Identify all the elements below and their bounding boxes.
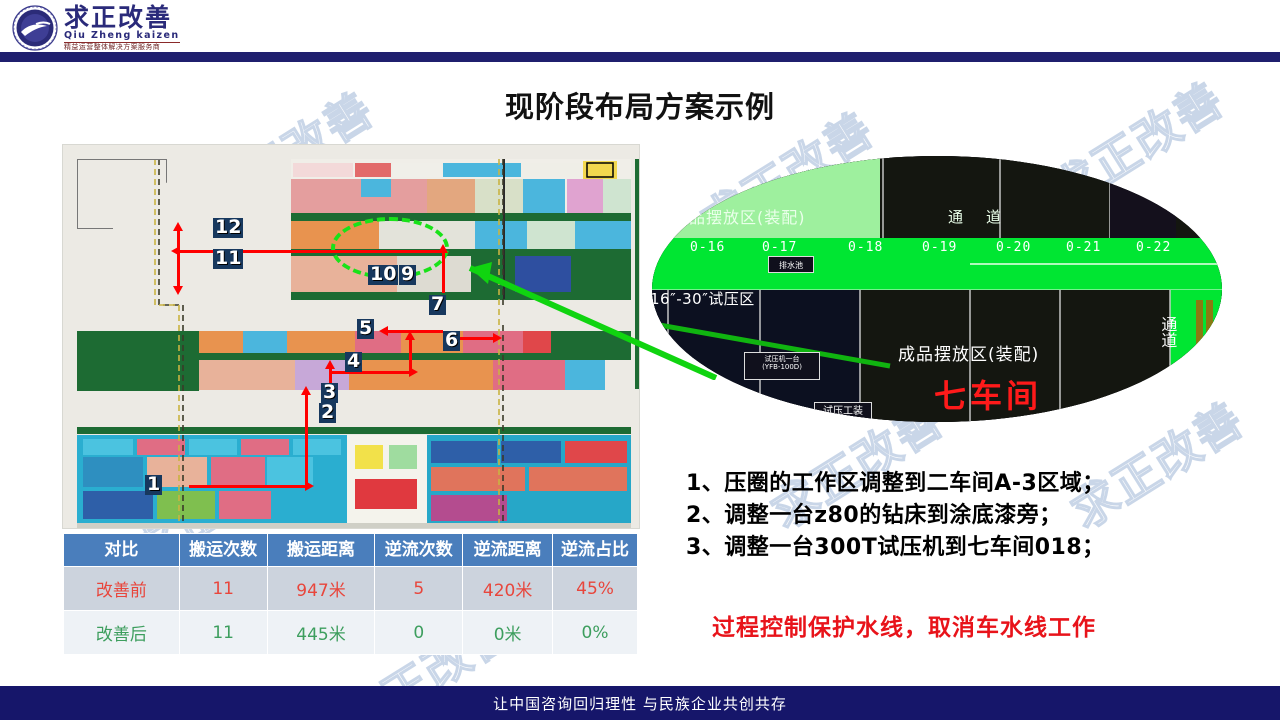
note-line: 2、调整一台z80的钻床到涂底漆旁； [686,500,1246,532]
cell-backflow-count: 5 [375,567,463,611]
header-divider-bar [0,52,1280,62]
cell-distance: 947米 [267,567,375,611]
note-line: 3、调整一台300T试压机到七车间018； [686,532,1246,564]
note-highlight: 过程控制保护水线，取消车水线工作 [712,608,1096,642]
slide-root: 求正改善 求正改善 求正改善 求正改善 求正改善 求正改善 求正改善 求正改善 … [0,0,1280,720]
oval-box-machine-line1: 试压机一台 [745,355,819,363]
oval-box-machine: 试压机一台 (YFB-100D) [744,352,820,380]
cell-label: 改善前 [64,567,180,611]
col-header-distance: 搬运距离 [267,534,375,567]
footer-slogan: 让中国咨询回归理性 与民族企业共创共存 [493,693,787,714]
cell-distance: 445米 [267,611,375,655]
notes-list: 1、压圈的工作区调整到二车间A-3区域； 2、调整一台z80的钻床到涂底漆旁； … [686,468,1246,564]
oval-test-zone-label: 16″-30″试压区 [652,288,755,309]
comparison-table: 对比 搬运次数 搬运距离 逆流次数 逆流距离 逆流占比 改善前 11 947米 … [63,533,638,655]
callout-4: 4 [345,352,362,372]
oval-cell-0-21: 0-21 [1066,240,1101,255]
col-header-backflow-count: 逆流次数 [375,534,463,567]
workshop-detail-oval: 成品摆放区(装配) 通 道 0-16 0-17 0-18 0-19 0-20 0… [652,156,1222,422]
oval-corridor-top-label: 通 道 [948,206,1005,227]
cell-backflow-ratio: 45% [553,567,638,611]
col-header-compare: 对比 [64,534,180,567]
callout-9: 9 [399,265,416,285]
oval-cell-0-18: 0-18 [848,240,883,255]
oval-cell-0-22: 0-22 [1136,240,1171,255]
cell-backflow-distance: 0米 [463,611,553,655]
note-line: 1、压圈的工作区调整到二车间A-3区域； [686,468,1246,500]
callout-2: 2 [319,403,336,423]
col-header-backflow-ratio: 逆流占比 [553,534,638,567]
slide-footer: 让中国咨询回归理性 与民族企业共创共存 [0,686,1280,720]
logo-english-name: Qiu Zheng kaizen [64,31,180,41]
cell-trips: 11 [179,611,267,655]
photo-content: 12 11 10 9 7 5 6 4 [63,145,639,528]
cell-backflow-ratio: 0% [553,611,638,655]
cell-backflow-count: 0 [375,611,463,655]
oval-cell-0-16: 0-16 [690,240,725,255]
oval-area-top-label: 成品摆放区(装配) [672,204,806,228]
circular-emblem-icon [12,5,58,51]
table-row: 改善后 11 445米 0 0米 0% [64,611,638,655]
logo-text-block: 求正改善 Qiu Zheng kaizen 精益运营整体解决方案服务商 [64,5,180,51]
cell-trips: 11 [179,567,267,611]
logo-tagline: 精益运营整体解决方案服务商 [64,42,180,51]
logo-chinese-name: 求正改善 [64,5,180,30]
callout-7: 7 [429,295,446,315]
col-header-backflow-distance: 逆流距离 [463,534,553,567]
slide-header: 求正改善 Qiu Zheng kaizen 精益运营整体解决方案服务商 [0,0,1280,56]
callout-12: 12 [213,218,243,238]
oval-corridor-right-label: 通道 [1152,316,1182,348]
callout-6: 6 [443,331,460,351]
page-title: 现阶段布局方案示例 [0,84,1280,126]
oval-box-drain: 排水池 [768,256,814,273]
callout-3: 3 [321,383,338,403]
table-row: 改善前 11 947米 5 420米 45% [64,567,638,611]
oval-cell-0-17: 0-17 [762,240,797,255]
callout-10: 10 [368,265,398,285]
col-header-trips: 搬运次数 [179,534,267,567]
oval-box-machine-line2: (YFB-100D) [745,363,819,371]
oval-workshop-label: 七车间 [934,371,1042,417]
oval-box-tooling: 试压工装 [814,402,872,420]
company-logo: 求正改善 Qiu Zheng kaizen 精益运营整体解决方案服务商 [12,3,202,53]
oval-area-center-label: 成品摆放区(装配) [898,340,1039,365]
oval-cell-0-19: 0-19 [922,240,957,255]
oval-cell-0-20: 0-20 [996,240,1031,255]
callout-11: 11 [213,249,243,269]
table-header-row: 对比 搬运次数 搬运距离 逆流次数 逆流距离 逆流占比 [64,534,638,567]
cell-backflow-distance: 420米 [463,567,553,611]
callout-1: 1 [145,475,162,495]
factory-layout-photo: 12 11 10 9 7 5 6 4 [62,144,640,529]
callout-5: 5 [357,319,374,339]
cell-label: 改善后 [64,611,180,655]
